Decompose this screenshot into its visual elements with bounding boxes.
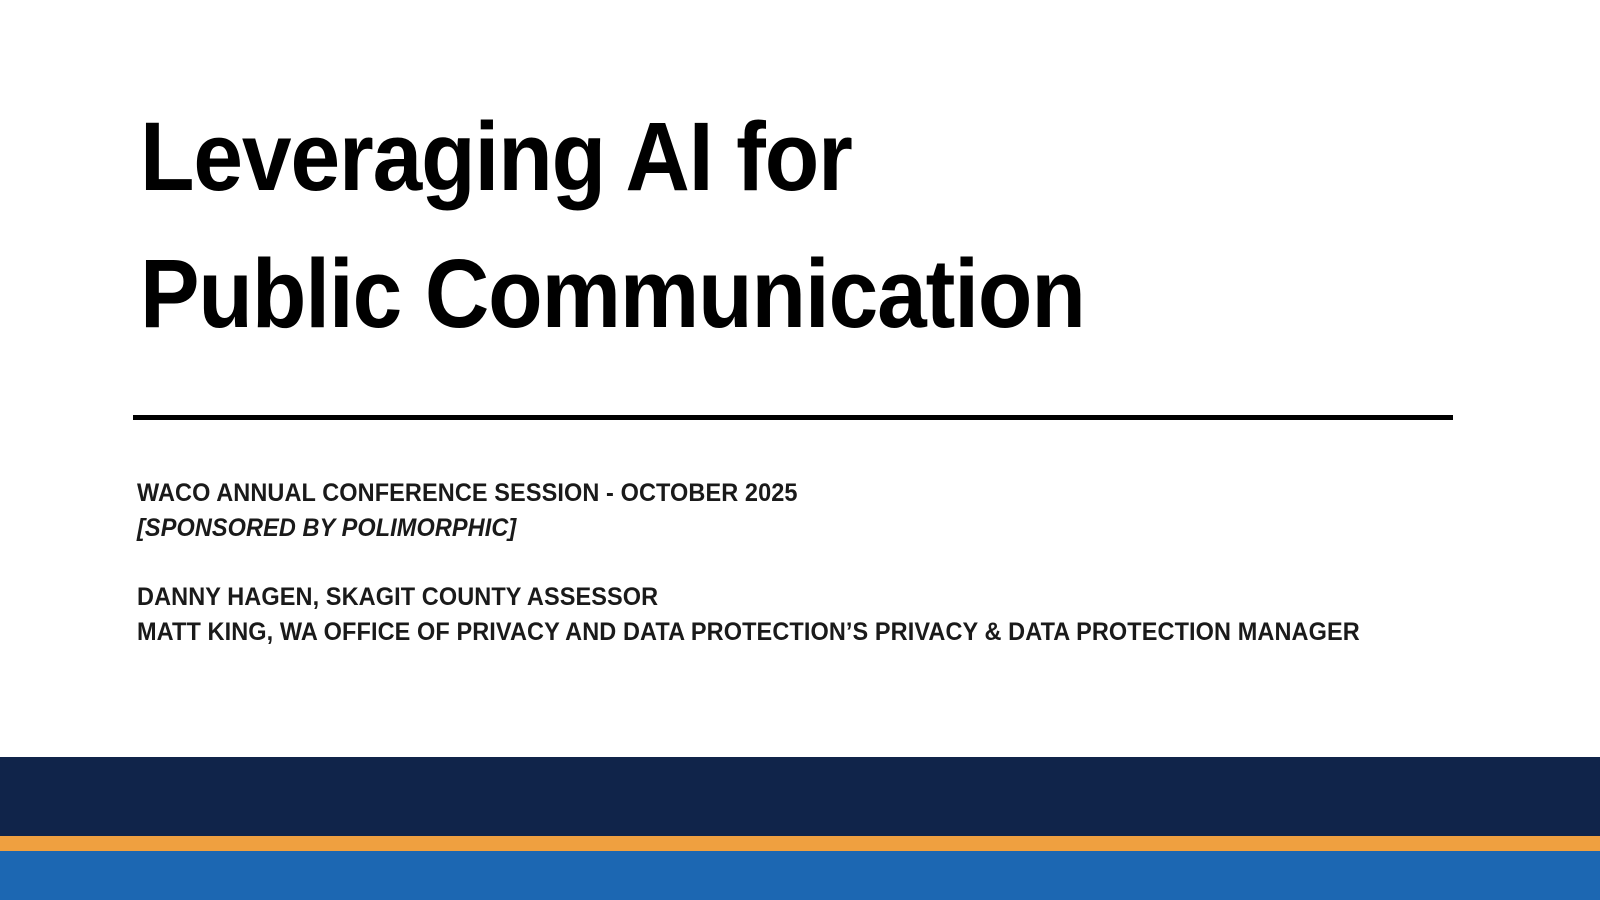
title-slide: Leveraging AI for Public Communication W…	[0, 0, 1600, 900]
presenter-line-2: MATT KING, WA OFFICE OF PRIVACY AND DATA…	[137, 615, 1406, 650]
sponsor-line: [SPONSORED BY POLIMORPHIC]	[137, 511, 1406, 546]
title-line-2: Public Communication	[140, 225, 1327, 362]
presenter-line-1: DANNY HAGEN, SKAGIT COUNTY ASSESSOR	[137, 580, 1406, 615]
footer-band-blue	[0, 851, 1600, 900]
subtitle-block: WACO ANNUAL CONFERENCE SESSION - OCTOBER…	[137, 476, 1487, 650]
footer-band-orange	[0, 836, 1600, 851]
page-title: Leveraging AI for Public Communication	[140, 88, 1430, 362]
title-divider-rule	[133, 415, 1453, 420]
conference-session-line: WACO ANNUAL CONFERENCE SESSION - OCTOBER…	[137, 476, 1406, 511]
footer-band-navy	[0, 757, 1600, 836]
subtitle-spacer	[137, 546, 1487, 580]
title-line-1: Leveraging AI for	[140, 88, 1327, 225]
